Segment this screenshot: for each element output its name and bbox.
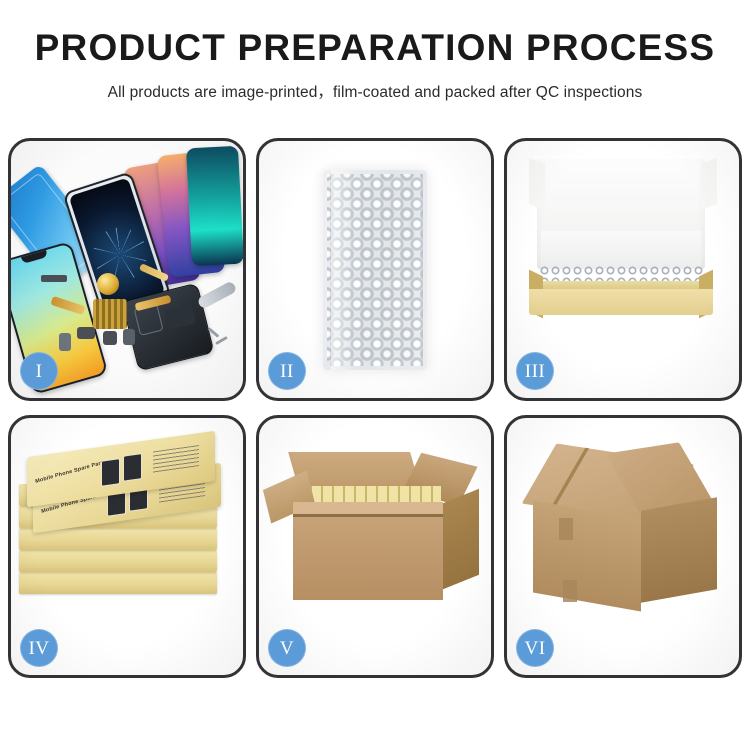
box-lid-side-left xyxy=(529,158,545,210)
bubble-wrap-sleeve xyxy=(323,170,427,370)
small-part-1 xyxy=(41,275,67,282)
carton-front-panel xyxy=(533,500,641,611)
box-screen-thumb-1 xyxy=(101,458,120,487)
small-part-4 xyxy=(123,329,135,345)
step-badge-iv: IV xyxy=(20,629,58,667)
box-front-panel xyxy=(529,289,713,315)
box-lid-side-right xyxy=(701,158,717,210)
step-panel-iv: Mobile Phone Spare Parts Mobile Phone Sp… xyxy=(8,415,246,678)
page-subtitle: All products are image-printed，film-coat… xyxy=(0,80,750,102)
step-panel-iii: III xyxy=(504,138,742,401)
step-panel-vi: VI xyxy=(504,415,742,678)
header: PRODUCT PREPARATION PROCESS All products… xyxy=(0,0,750,102)
wireless-charging-coil xyxy=(97,273,119,295)
step-badge-i: I xyxy=(20,352,58,390)
step-panel-ii: II xyxy=(256,138,494,401)
step-panel-i: I xyxy=(8,138,246,401)
carton-right-panel xyxy=(641,497,717,602)
step-badge-vi: VI xyxy=(516,629,554,667)
step-panel-v: V xyxy=(256,415,494,678)
step-badge-ii: II xyxy=(268,352,306,390)
small-part-3 xyxy=(103,331,117,345)
retail-box-bottom-3 xyxy=(19,528,217,550)
carton-front-edge xyxy=(293,514,443,517)
box-screen-thumb-2 xyxy=(123,453,142,482)
plastic-highlight xyxy=(331,170,357,370)
repair-tool xyxy=(197,280,238,309)
foam-liner xyxy=(541,231,701,269)
retail-box-bottom-1 xyxy=(19,572,217,594)
box-label-text-upper: Mobile Phone Spare Parts xyxy=(35,459,106,485)
step-badge-iii: III xyxy=(516,352,554,390)
small-part-2 xyxy=(77,327,95,339)
steps-grid: I II xyxy=(8,138,742,678)
carton-front xyxy=(293,514,443,600)
gold-connector-chip xyxy=(93,299,127,329)
small-part-5 xyxy=(59,333,71,351)
product-preparation-infographic: PRODUCT PREPARATION PROCESS All products… xyxy=(0,0,750,750)
box-spec-lines-upper xyxy=(153,445,199,473)
carton-side-right xyxy=(443,489,479,590)
page-title: PRODUCT PREPARATION PROCESS xyxy=(0,28,750,69)
retail-box-bottom-2 xyxy=(19,550,217,572)
carton-tape-mark-bottom xyxy=(563,580,577,602)
phone-screen-green xyxy=(186,146,243,267)
carton-tape-mark-top xyxy=(559,518,573,540)
step-badge-v: V xyxy=(268,629,306,667)
